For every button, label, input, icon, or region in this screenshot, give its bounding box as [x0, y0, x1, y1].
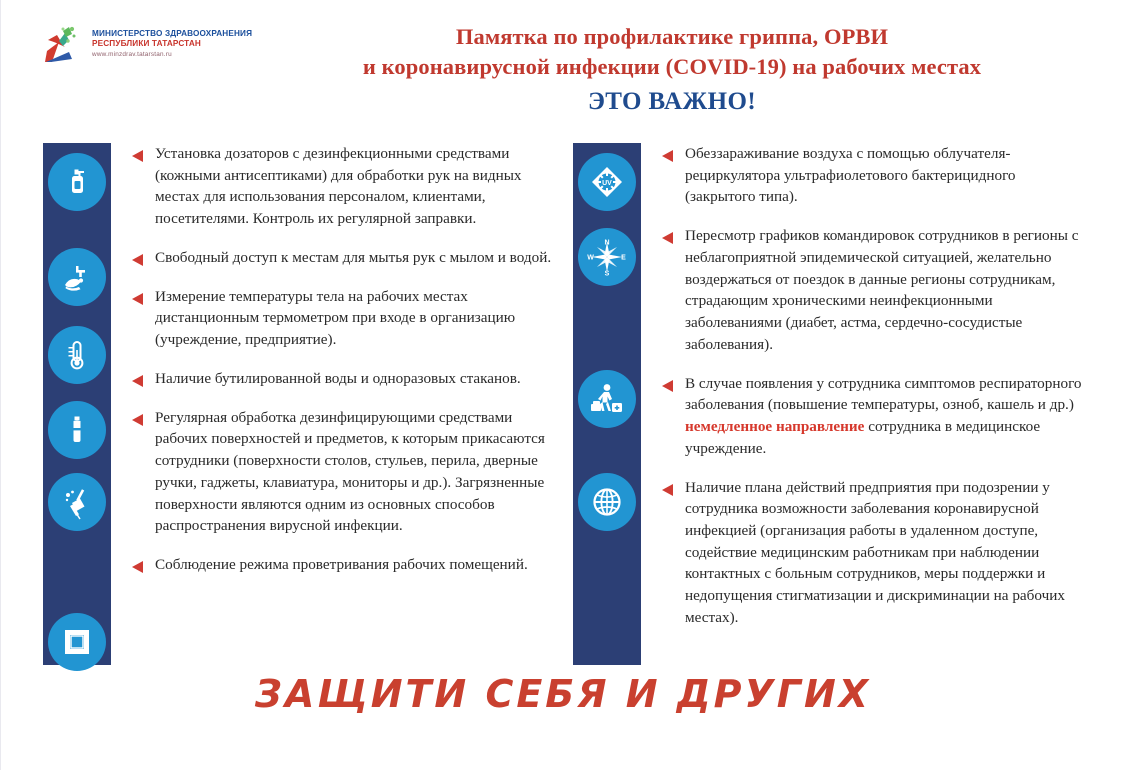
- list-item: Регулярная обработка дезинфицирующими ср…: [131, 407, 553, 537]
- triangle-left-icon: [661, 149, 678, 163]
- window-ventilation-icon: [48, 613, 106, 671]
- ministry-logo: МИНИСТЕРСТВО ЗДРАВООХРАНЕНИЯ РЕСПУБЛИКИ …: [39, 18, 254, 70]
- list-item-text-before: В случае появления у сотрудника симптомо…: [685, 375, 1082, 414]
- right-items-list: Обеззараживание воздуха с помощью облуча…: [641, 143, 1083, 665]
- list-item: Соблюдение режима проветривания рабочих …: [131, 554, 553, 576]
- list-item: Наличие плана действий предприятия при п…: [661, 477, 1083, 629]
- poster-footer: ЗАЩИТИ СЕБЯ И ДРУГИХ: [1, 672, 1125, 716]
- broom-cleaning-icon: [48, 473, 106, 531]
- compass-rose-icon: N S W E: [578, 228, 636, 286]
- triangle-left-icon: [661, 483, 678, 497]
- svg-text:N: N: [604, 240, 609, 247]
- list-item-text: Свободный доступ к местам для мытья рук …: [155, 247, 551, 269]
- sanitizer-dispenser-icon: [48, 153, 106, 211]
- list-item-text: Пересмотр графиков командировок сотрудни…: [685, 225, 1083, 355]
- list-item: Свободный доступ к местам для мытья рук …: [131, 247, 553, 269]
- list-item-text: Установка дозаторов с дезинфекционными с…: [155, 143, 553, 230]
- page-title-line1: Памятка по профилактике гриппа, ОРВИ: [259, 22, 1085, 52]
- list-item: Установка дозаторов с дезинфекционными с…: [131, 143, 553, 230]
- ministry-logo-url: www.minzdrav.tatarstan.ru: [92, 51, 252, 59]
- list-item: Измерение температуры тела на рабочих ме…: [131, 286, 553, 351]
- list-item: Пересмотр графиков командировок сотрудни…: [661, 225, 1083, 355]
- thermometer-icon: [48, 326, 106, 384]
- medical-assistance-icon: [578, 370, 636, 428]
- content-columns: Установка дозаторов с дезинфекционными с…: [1, 143, 1125, 665]
- left-items-list: Установка дозаторов с дезинфекционными с…: [111, 143, 553, 665]
- triangle-left-icon: [131, 413, 148, 427]
- triangle-left-icon: [661, 231, 678, 245]
- list-item: В случае появления у сотрудника симптомо…: [661, 373, 1083, 460]
- list-item-text: Регулярная обработка дезинфицирующими ср…: [155, 407, 553, 537]
- triangle-left-icon: [661, 379, 678, 393]
- svg-text:S: S: [605, 271, 610, 278]
- ministry-logo-text: МИНИСТЕРСТВО ЗДРАВООХРАНЕНИЯ РЕСПУБЛИКИ …: [92, 29, 252, 59]
- poster-page: МИНИСТЕРСТВО ЗДРАВООХРАНЕНИЯ РЕСПУБЛИКИ …: [0, 0, 1125, 770]
- list-item: Обеззараживание воздуха с помощью облуча…: [661, 143, 1083, 208]
- triangle-left-icon: [131, 374, 148, 388]
- svg-text:UV: UV: [602, 180, 612, 187]
- water-bottle-icon: [48, 401, 106, 459]
- triangle-left-icon: [131, 253, 148, 267]
- left-icon-bar: [43, 143, 111, 665]
- footer-slogan: ЗАЩИТИ СЕБЯ И ДРУГИХ: [255, 672, 871, 716]
- globe-icon: [578, 473, 636, 531]
- left-column: Установка дозаторов с дезинфекционными с…: [43, 143, 553, 665]
- uv-lamp-icon: UV: [578, 153, 636, 211]
- tatarstan-ministry-of-health-logo-icon: [39, 21, 85, 67]
- list-item-text: Наличие бутилированной воды и одноразовы…: [155, 368, 521, 390]
- list-item-text: Измерение температуры тела на рабочих ме…: [155, 286, 553, 351]
- right-column: UV: [573, 143, 1083, 665]
- page-subtitle: ЭТО ВАЖНО!: [259, 88, 1085, 116]
- right-icon-bar: UV: [573, 143, 641, 665]
- list-item-text: Обеззараживание воздуха с помощью облуча…: [685, 143, 1083, 208]
- list-item-text: Наличие плана действий предприятия при п…: [685, 477, 1083, 629]
- triangle-left-icon: [131, 149, 148, 163]
- list-item: Наличие бутилированной воды и одноразовы…: [131, 368, 553, 390]
- svg-text:W: W: [587, 255, 594, 262]
- triangle-left-icon: [131, 292, 148, 306]
- poster-header: МИНИСТЕРСТВО ЗДРАВООХРАНЕНИЯ РЕСПУБЛИКИ …: [1, 0, 1125, 130]
- handwashing-tap-icon: [48, 248, 106, 306]
- list-item-text: Соблюдение режима проветривания рабочих …: [155, 554, 528, 576]
- triangle-left-icon: [131, 560, 148, 574]
- ministry-logo-line2: РЕСПУБЛИКИ ТАТАРСТАН: [92, 39, 252, 49]
- ministry-logo-line1: МИНИСТЕРСТВО ЗДРАВООХРАНЕНИЯ: [92, 29, 252, 39]
- page-title-line2: и коронавирусной инфекции (COVID-19) на …: [259, 52, 1085, 82]
- highlighted-phrase: немедленное направление: [685, 418, 864, 435]
- list-item-text: В случае появления у сотрудника симптомо…: [685, 373, 1083, 460]
- svg-text:E: E: [621, 255, 626, 262]
- poster-title-block: Памятка по профилактике гриппа, ОРВИ и к…: [259, 22, 1085, 116]
